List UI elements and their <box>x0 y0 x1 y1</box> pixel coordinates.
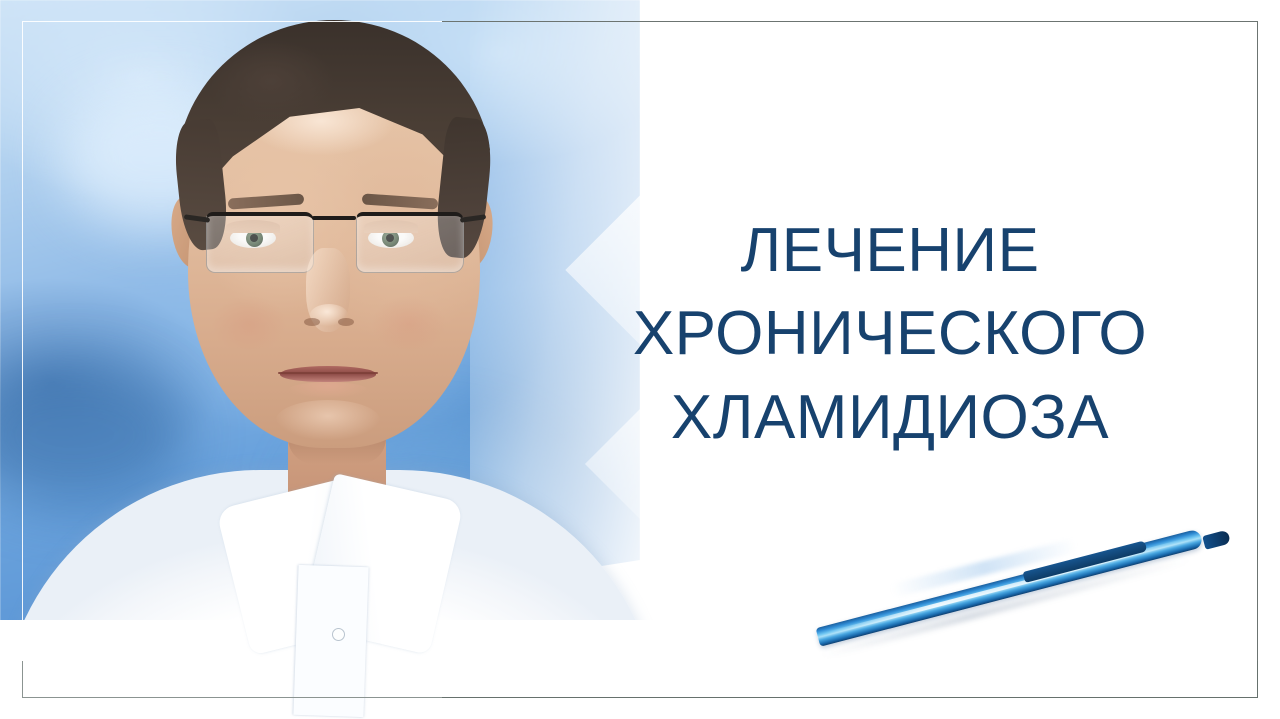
title-line-1: ЛЕЧЕНИЕ <box>560 216 1220 285</box>
title-line-2: ХРОНИЧЕСКОГО <box>560 299 1220 368</box>
coat-placket <box>293 565 368 717</box>
video-thumbnail: ЛЕЧЕНИЕ ХРОНИЧЕСКОГО ХЛАМИДИОЗА <box>0 0 1280 719</box>
coat-button <box>332 628 345 641</box>
eyeglass-lens-left <box>206 212 314 273</box>
page-title: ЛЕЧЕНИЕ ХРОНИЧЕСКОГО ХЛАМИДИОЗА <box>560 216 1220 452</box>
blue-ballpoint-pen <box>800 536 1230 686</box>
pen-shadow <box>821 556 1190 658</box>
cheek-right <box>372 296 446 352</box>
nostril-right <box>338 318 354 326</box>
eyeglass-lens-right <box>356 212 464 273</box>
chin-highlight <box>276 400 380 440</box>
cheek-left <box>212 296 286 352</box>
doctor-portrait <box>120 0 540 719</box>
eyeglass-bridge <box>312 216 356 220</box>
lower-lip-highlight <box>288 382 368 398</box>
nostril-left <box>304 318 320 326</box>
title-line-3: ХЛАМИДИОЗА <box>560 383 1220 452</box>
